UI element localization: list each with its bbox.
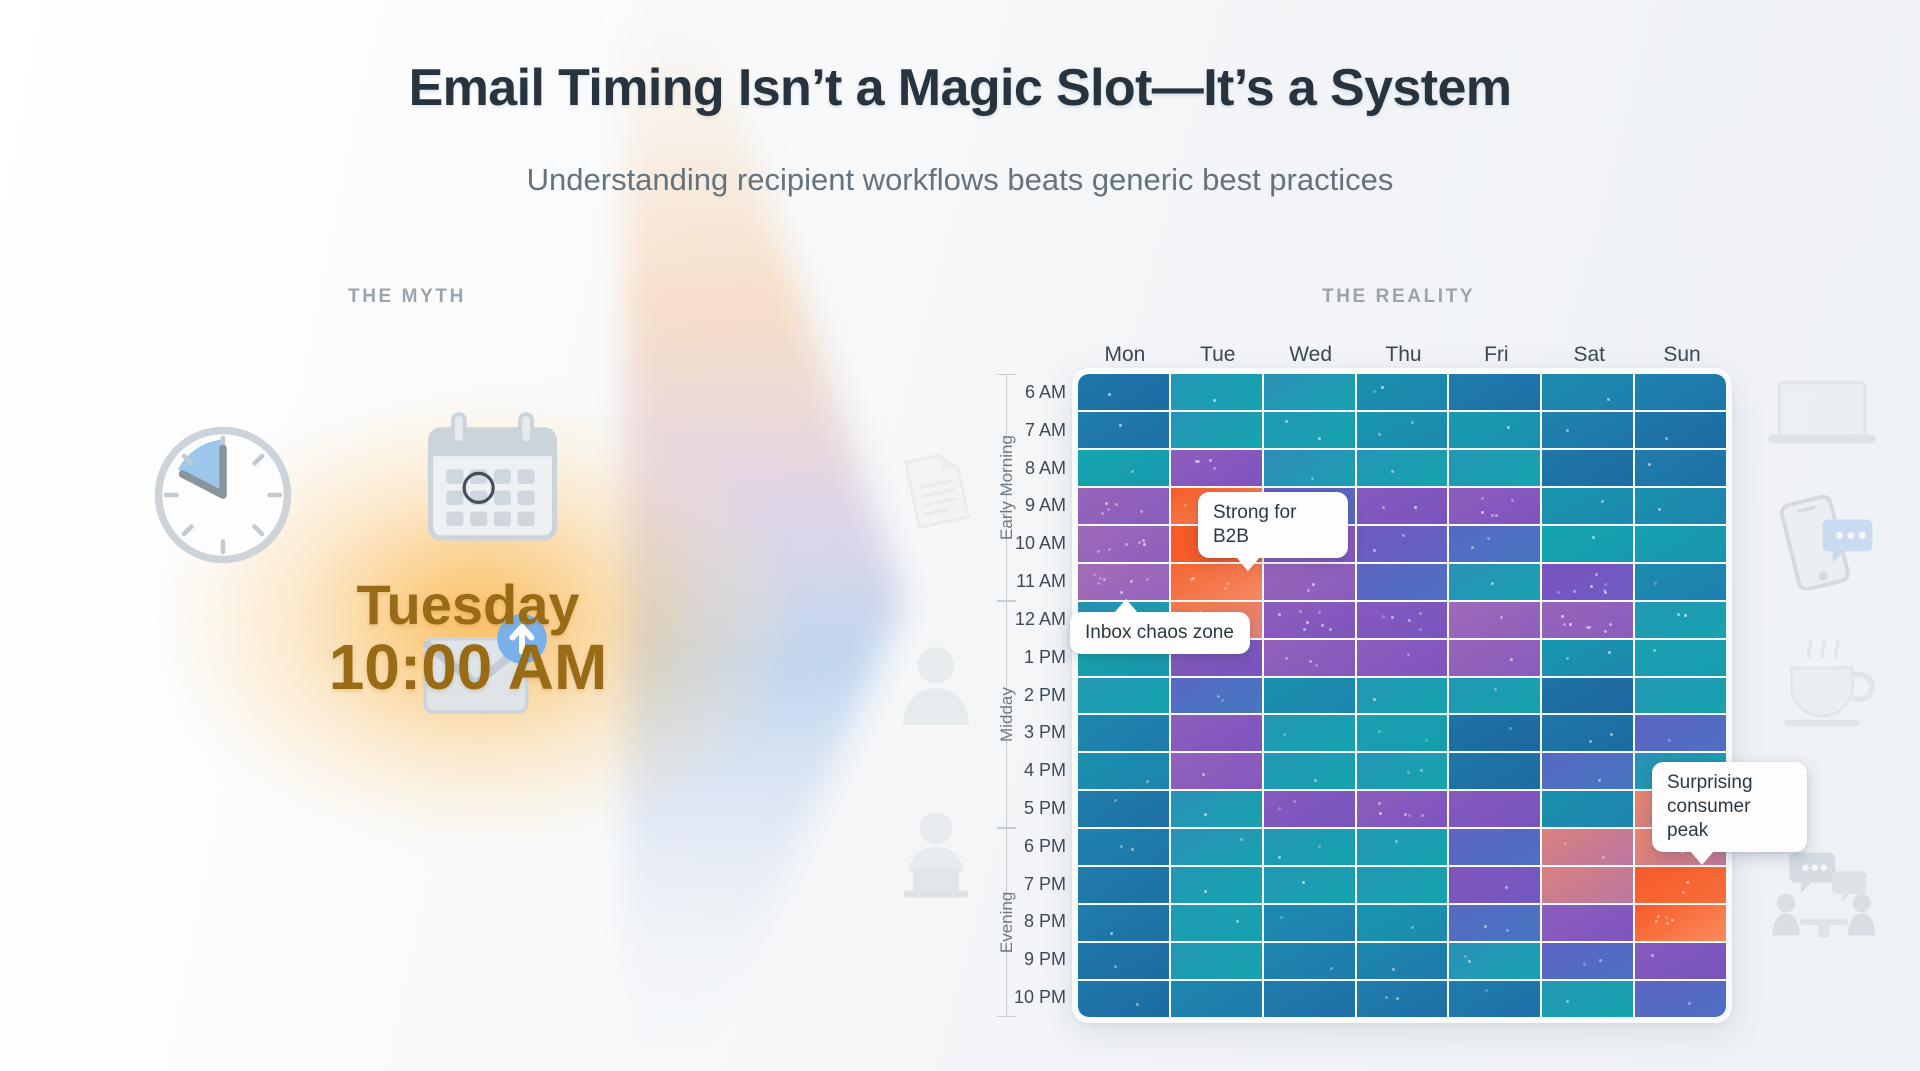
heatmap-cell-speckle	[1285, 420, 1288, 423]
heatmap-cell[interactable]	[1542, 791, 1633, 827]
heatmap-cell[interactable]	[1078, 564, 1169, 600]
heatmap-cell[interactable]	[1264, 602, 1355, 638]
heatmap-cell-speckle	[1589, 740, 1592, 743]
heatmap-cell-speckle	[1314, 779, 1317, 782]
heatmap-cell-speckle	[1603, 589, 1606, 592]
heatmap-cell[interactable]	[1635, 867, 1726, 903]
heatmap-cell-speckle	[1557, 591, 1560, 594]
heatmap-cell[interactable]	[1635, 640, 1726, 676]
heatmap-cell[interactable]	[1635, 981, 1726, 1017]
heatmap-cell[interactable]	[1635, 412, 1726, 448]
heatmap-cell[interactable]	[1171, 867, 1262, 903]
heatmap-cell[interactable]	[1449, 526, 1540, 562]
heatmap-cell[interactable]	[1357, 753, 1448, 789]
heatmap-cell-speckle	[1318, 845, 1321, 848]
heatmap-cell-speckle	[1382, 506, 1385, 509]
heatmap-cell-speckle	[1379, 812, 1382, 815]
heatmap-cell[interactable]	[1542, 602, 1633, 638]
heatmap-cell-speckle	[1566, 1000, 1569, 1003]
heatmap-cell[interactable]	[1357, 526, 1448, 562]
heatmap-cell-speckle	[1195, 460, 1198, 463]
heatmap-cell-speckle	[1391, 470, 1394, 473]
infographic-canvas: Email Timing Isn’t a Magic Slot—It’s a S…	[0, 0, 1920, 1071]
heatmap-cell[interactable]	[1357, 791, 1448, 827]
heatmap-cell[interactable]	[1449, 753, 1540, 789]
day-header-mon: Mon	[1077, 343, 1172, 367]
heatmap-cell[interactable]	[1264, 715, 1355, 751]
day-header-thu: Thu	[1356, 343, 1451, 367]
heatmap-cell-speckle	[1561, 615, 1564, 618]
heatmap-cell-speckle	[1309, 660, 1312, 663]
heatmap-cell-speckle	[1373, 698, 1376, 701]
heatmap-cell-speckle	[1391, 616, 1394, 619]
heatmap-cell-speckle	[1510, 658, 1513, 661]
heatmap-cell[interactable]	[1171, 450, 1262, 486]
heatmap-cell[interactable]	[1078, 981, 1169, 1017]
heatmap-cell-speckle	[1378, 433, 1381, 436]
heatmap-cell[interactable]	[1264, 678, 1355, 714]
heatmap-cell-speckle	[1464, 955, 1467, 958]
section-label-reality: THE REALITY	[1322, 286, 1475, 308]
heatmap-cell[interactable]	[1078, 488, 1169, 524]
hour-label: 11 AM	[988, 571, 1066, 592]
heatmap-cell[interactable]	[1078, 374, 1169, 410]
heatmap-cell-speckle	[1396, 997, 1399, 1000]
heatmap-cell[interactable]	[1264, 374, 1355, 410]
heatmap-cell[interactable]	[1357, 602, 1448, 638]
heatmap-cell-speckle	[1278, 856, 1281, 859]
heatmap-cell[interactable]	[1635, 450, 1726, 486]
heatmap-cell[interactable]	[1171, 753, 1262, 789]
heatmap-cell[interactable]	[1078, 829, 1169, 865]
heatmap-cell-speckle	[1583, 963, 1586, 966]
heatmap-cell-speckle	[1114, 965, 1117, 968]
heatmap-cell-speckle	[1599, 959, 1602, 962]
heatmap-cell[interactable]	[1542, 867, 1633, 903]
heatmap-cell-speckle	[1105, 502, 1108, 505]
heatmap-cell[interactable]	[1357, 450, 1448, 486]
heatmap-cell-speckle	[1311, 477, 1314, 480]
heatmap-cell-speckle	[1378, 802, 1381, 805]
heatmap-cell[interactable]	[1264, 943, 1355, 979]
heatmap-cell-speckle	[1382, 615, 1385, 618]
heatmap-cell-speckle	[1421, 814, 1424, 817]
page-title: Email Timing Isn’t a Magic Slot—It’s a S…	[0, 58, 1920, 118]
day-header-sun: Sun	[1635, 343, 1730, 367]
heatmap-cell-speckle	[1204, 890, 1207, 893]
heatmap-cell[interactable]	[1078, 412, 1169, 448]
heatmap-cell[interactable]	[1171, 678, 1262, 714]
heatmap-cell[interactable]	[1171, 715, 1262, 751]
hour-label: 7 PM	[988, 874, 1066, 895]
heatmap-cell-speckle	[1330, 967, 1333, 970]
heatmap-cell[interactable]	[1542, 412, 1633, 448]
heatmap-cell-speckle	[1573, 590, 1576, 593]
heatmap-cell[interactable]	[1264, 981, 1355, 1017]
heatmap-cell-speckle	[1407, 653, 1410, 656]
phone-message-icon	[1778, 490, 1876, 590]
heatmap-cell[interactable]	[1171, 412, 1262, 448]
heatmap-cell-speckle	[1278, 613, 1281, 616]
heatmap-cell[interactable]	[1542, 450, 1633, 486]
heatmap-cell[interactable]	[1635, 715, 1726, 751]
heatmap-cell[interactable]	[1449, 374, 1540, 410]
heatmap-cell[interactable]	[1171, 791, 1262, 827]
callout-tail	[1114, 599, 1138, 613]
heatmap-cell-speckle	[1103, 578, 1106, 581]
heatmap-cell-speckle	[1280, 916, 1283, 919]
heatmap-cell-speckle	[1586, 626, 1589, 629]
heatmap-cell-speckle	[1404, 813, 1407, 816]
heatmap-cell[interactable]	[1357, 640, 1448, 676]
heatmap-cell-speckle	[1184, 504, 1187, 507]
callout-text: Inbox chaos zone	[1085, 622, 1234, 643]
hour-label: 12 AM	[988, 609, 1066, 630]
heatmap-cell[interactable]	[1264, 753, 1355, 789]
heatmap-cell[interactable]	[1542, 715, 1633, 751]
heatmap-cell-speckle	[1402, 534, 1405, 537]
heatmap-cell[interactable]	[1357, 829, 1448, 865]
heatmap-cell-speckle	[1142, 539, 1145, 542]
heatmap-cell-speckle	[1120, 591, 1123, 594]
heatmap-cell[interactable]	[1542, 526, 1633, 562]
heatmap-cell[interactable]	[1635, 602, 1726, 638]
heatmap-cell[interactable]	[1357, 412, 1448, 448]
heatmap-cell[interactable]	[1357, 981, 1448, 1017]
heatmap-cell[interactable]	[1449, 640, 1540, 676]
heatmap-cell[interactable]	[1449, 829, 1540, 865]
heatmap-cell-speckle	[1665, 916, 1668, 919]
heatmap-cell-speckle	[1202, 773, 1205, 776]
hour-label: 5 PM	[988, 798, 1066, 819]
heatmap-cell-speckle	[1312, 583, 1315, 586]
hour-label: 2 PM	[988, 685, 1066, 706]
clock-icon	[148, 420, 298, 570]
heatmap-cell-speckle	[1411, 421, 1414, 424]
heatmap-cell[interactable]	[1078, 867, 1169, 903]
heatmap-cell-speckle	[1507, 426, 1510, 429]
heatmap-cell[interactable]	[1542, 753, 1633, 789]
calendar-icon	[420, 408, 565, 548]
day-header-fri: Fri	[1449, 343, 1544, 367]
heatmap-cell[interactable]	[1171, 905, 1262, 941]
heatmap-cell-speckle	[1373, 390, 1376, 393]
heatmap-cell-speckle	[1108, 548, 1111, 551]
heatmap-cell-speckle	[1569, 623, 1572, 626]
heatmap-cell-speckle	[1566, 657, 1569, 660]
callout-consumer-peak[interactable]: Surprising consumer peak	[1652, 762, 1807, 852]
myth-day-label: Tuesday	[168, 575, 768, 634]
heatmap-cell-speckle	[1120, 845, 1123, 848]
heatmap-cell[interactable]	[1542, 905, 1633, 941]
heatmap-grid[interactable]	[1078, 374, 1726, 1017]
hour-label: 6 PM	[988, 836, 1066, 857]
heatmap-cell-speckle	[1285, 657, 1288, 660]
heatmap-cell-speckle	[1217, 695, 1220, 698]
heatmap-cell[interactable]	[1635, 488, 1726, 524]
heatmap-cell-speckle	[1140, 510, 1143, 513]
heatmap-cell[interactable]	[1542, 943, 1633, 979]
heatmap-cell[interactable]	[1357, 564, 1448, 600]
heatmap-cell-speckle	[1419, 628, 1422, 631]
heatmap-cell-speckle	[1601, 500, 1604, 503]
heatmap-cell-speckle	[1511, 499, 1514, 502]
heatmap-cell[interactable]	[1449, 488, 1540, 524]
callout-inbox-chaos[interactable]: Inbox chaos zone	[1070, 612, 1250, 654]
heatmap-cell-speckle	[1414, 506, 1417, 509]
heatmap-card[interactable]	[1072, 368, 1732, 1023]
heatmap-cell-speckle	[1598, 779, 1601, 782]
heatmap-cell[interactable]	[1542, 829, 1633, 865]
heatmap-cell[interactable]	[1635, 564, 1726, 600]
heatmap-cell-speckle	[1408, 619, 1411, 622]
callout-tail	[1690, 851, 1714, 865]
heatmap-cell[interactable]	[1449, 412, 1540, 448]
heatmap-cell[interactable]	[1635, 374, 1726, 410]
heatmap-cell-speckle	[1131, 470, 1134, 473]
heatmap-cell[interactable]	[1635, 678, 1726, 714]
heatmap-cell-speckle	[1684, 614, 1687, 617]
document-icon	[896, 450, 976, 530]
heatmap-cell-speckle	[1395, 840, 1398, 843]
heatmap-cell-speckle	[1097, 550, 1100, 553]
hour-label: 10 PM	[988, 987, 1066, 1008]
heatmap-cell-speckle	[1283, 733, 1286, 736]
heatmap-cell-speckle	[1484, 925, 1487, 928]
heatmap-cell[interactable]	[1357, 905, 1448, 941]
heatmap-cell[interactable]	[1357, 943, 1448, 979]
heatmap-cell-speckle	[1240, 838, 1243, 841]
heatmap-cell-speckle	[1595, 573, 1598, 576]
heatmap-cell-speckle	[1115, 503, 1118, 506]
heatmap-cell-speckle	[1307, 589, 1310, 592]
myth-callout: Tuesday 10:00 AM	[168, 575, 768, 702]
heatmap-cell-speckle	[1648, 463, 1651, 466]
heatmap-cell[interactable]	[1171, 829, 1262, 865]
heatmap-cell[interactable]	[1449, 602, 1540, 638]
heatmap-cell[interactable]	[1357, 715, 1448, 751]
heatmap-cell[interactable]	[1357, 678, 1448, 714]
heatmap-cell-speckle	[1590, 585, 1593, 588]
hour-axis: 6 AM7 AM8 AM9 AM10 AM11 AM12 AM1 PM2 PM3…	[1000, 368, 1066, 1023]
heatmap-cell-speckle	[1602, 856, 1605, 859]
heatmap-cell[interactable]	[1635, 905, 1726, 941]
page-subtitle: Understanding recipient workflows beats …	[0, 162, 1920, 198]
heatmap-cell-speckle	[1604, 630, 1607, 633]
heatmap-cell-speckle	[1299, 610, 1302, 613]
heatmap-cell-speckle	[1221, 699, 1224, 702]
heatmap-cell-speckle	[1419, 612, 1422, 615]
laptop-icon	[1768, 378, 1876, 448]
heatmap-cell[interactable]	[1264, 867, 1355, 903]
meeting-icon	[1770, 848, 1880, 940]
heatmap-cell-speckle	[1481, 497, 1484, 500]
heatmap-cell-speckle	[1101, 512, 1104, 515]
heatmap-cell-speckle	[1481, 511, 1484, 514]
heatmap-cell-speckle	[1213, 467, 1216, 470]
heatmap-cell-speckle	[1608, 651, 1611, 654]
myth-time-label: 10:00 AM	[168, 634, 768, 702]
heatmap-cell-speckle	[1236, 920, 1239, 923]
heatmap-cell[interactable]	[1264, 905, 1355, 941]
heatmap-cell[interactable]	[1078, 943, 1169, 979]
heatmap-cell-speckle	[1506, 929, 1509, 932]
heatmap-cell-speckle	[1505, 886, 1508, 889]
heatmap-cell-speckle	[1329, 628, 1332, 631]
heatmap-cell[interactable]	[1264, 791, 1355, 827]
heatmap-cell[interactable]	[1635, 526, 1726, 562]
heatmap-cell-speckle	[1318, 611, 1321, 614]
heatmap-cell-speckle	[1302, 881, 1305, 884]
heatmap-cell-speckle	[1471, 546, 1474, 549]
heatmap-cell[interactable]	[1542, 374, 1633, 410]
heatmap-cell-speckle	[1666, 922, 1669, 925]
heatmap-cell-speckle	[1114, 799, 1117, 802]
heatmap-cell-speckle	[1407, 771, 1410, 774]
heatmap-cell-speckle	[1651, 954, 1654, 957]
heatmap-cell-speckle	[1487, 537, 1490, 540]
heatmap-cell-speckle	[1425, 739, 1428, 742]
heatmap-cell-speckle	[1303, 628, 1306, 631]
heatmap-cell-speckle	[1373, 549, 1376, 552]
heatmap-cell-speckle	[1411, 926, 1414, 929]
heatmap-cell-speckle	[1485, 989, 1488, 992]
heatmap-cell[interactable]	[1078, 450, 1169, 486]
day-header-tue: Tue	[1170, 343, 1265, 367]
heatmap-cell-speckle	[1494, 688, 1497, 691]
heatmap-cell[interactable]	[1171, 981, 1262, 1017]
heatmap-cell-speckle	[1306, 621, 1309, 624]
heatmap-cell[interactable]	[1264, 640, 1355, 676]
heatmap-cell-speckle	[1682, 891, 1685, 894]
heatmap-cell[interactable]	[1542, 981, 1633, 1017]
heatmap-cell-speckle	[1420, 769, 1423, 772]
hour-label: 7 AM	[988, 420, 1066, 441]
heatmap-cell-speckle	[1315, 664, 1318, 667]
person-icon	[896, 640, 976, 725]
heatmap-cell-speckle	[1668, 739, 1671, 742]
day-header-sat: Sat	[1542, 343, 1637, 367]
heatmap-cell-speckle	[1318, 437, 1321, 440]
heatmap-cell[interactable]	[1449, 450, 1540, 486]
heatmap-cell-speckle	[1500, 616, 1503, 619]
hour-label: 9 PM	[988, 949, 1066, 970]
heatmap-cell-speckle	[1190, 578, 1193, 581]
heatmap-cell-speckle	[1278, 807, 1281, 810]
heatmap-cell-speckle	[1392, 968, 1395, 971]
heatmap-cell-speckle	[1657, 915, 1660, 918]
heatmap-cell[interactable]	[1264, 450, 1355, 486]
hour-label: 8 PM	[988, 911, 1066, 932]
heatmap-cell[interactable]	[1078, 526, 1169, 562]
heatmap-cell-speckle	[1665, 437, 1668, 440]
heatmap-cell[interactable]	[1357, 488, 1448, 524]
heatmap-cell-speckle	[1107, 508, 1110, 511]
heatmap-cell[interactable]	[1542, 488, 1633, 524]
heatmap-cell-speckle	[1658, 508, 1661, 511]
heatmap-cell-speckle	[1136, 1003, 1139, 1006]
hour-label: 1 PM	[988, 647, 1066, 668]
heatmap-cell[interactable]	[1449, 905, 1540, 941]
heatmap-cell[interactable]	[1078, 905, 1169, 941]
heatmap-cell[interactable]	[1357, 867, 1448, 903]
heatmap-cell[interactable]	[1449, 943, 1540, 979]
heatmap-cell[interactable]	[1171, 943, 1262, 979]
heatmap-cell[interactable]	[1264, 564, 1355, 600]
heatmap-cell-speckle	[1146, 578, 1149, 581]
heatmap-cell-speckle	[1509, 727, 1512, 730]
callout-strong-b2b[interactable]: Strong for B2B	[1198, 492, 1348, 558]
hour-label: 4 PM	[988, 760, 1066, 781]
heatmap-cell[interactable]	[1449, 981, 1540, 1017]
heatmap-cell-speckle	[1093, 573, 1096, 576]
heatmap-cell-speckle	[1108, 393, 1111, 396]
heatmap-cell-speckle	[1099, 577, 1102, 580]
heatmap-cell[interactable]	[1635, 943, 1726, 979]
heatmap-cell-speckle	[1671, 919, 1674, 922]
hour-label: 9 AM	[988, 495, 1066, 516]
heatmap-cell-speckle	[1655, 920, 1658, 923]
heatmap-cell[interactable]	[1078, 753, 1169, 789]
heatmap-cell-speckle	[1224, 587, 1227, 590]
heatmap-cell-speckle	[1491, 582, 1494, 585]
heatmap-cell-speckle	[1378, 730, 1381, 733]
heatmap-cell[interactable]	[1542, 564, 1633, 600]
heatmap-cell-speckle	[1226, 582, 1229, 585]
heatmap-cell-speckle	[1138, 541, 1141, 544]
heatmap-cell-speckle	[1385, 996, 1388, 999]
callout-text: Surprising consumer peak	[1667, 772, 1753, 841]
heatmap-cell[interactable]	[1449, 678, 1540, 714]
heatmap-cell-speckle	[1491, 514, 1494, 517]
heatmap-cell-speckle	[1566, 429, 1569, 432]
heatmap-cell[interactable]	[1542, 678, 1633, 714]
heatmap-cell-speckle	[1146, 780, 1149, 783]
heatmap-cell-speckle	[1563, 623, 1566, 626]
heatmap-cell-speckle	[1592, 536, 1595, 539]
heatmap-cell[interactable]	[1078, 678, 1169, 714]
heatmap-cell-speckle	[1293, 800, 1296, 803]
heatmap-cell-speckle	[1654, 582, 1657, 585]
heatmap-cell[interactable]	[1542, 640, 1633, 676]
heatmap-cell-speckle	[1131, 848, 1134, 851]
heatmap-cell[interactable]	[1264, 829, 1355, 865]
heatmap-cell[interactable]	[1078, 791, 1169, 827]
heatmap-cell-speckle	[1130, 580, 1133, 583]
heatmap-cell-speckle	[1604, 583, 1607, 586]
heatmap-cell[interactable]	[1357, 374, 1448, 410]
heatmap-cell-speckle	[1097, 582, 1100, 585]
heatmap-cell-speckle	[1607, 398, 1610, 401]
heatmap-cell-speckle	[1468, 960, 1471, 963]
heatmap-cell[interactable]	[1449, 867, 1540, 903]
heatmap-cell-speckle	[1653, 649, 1656, 652]
heatmap-cell-speckle	[1609, 623, 1612, 626]
heatmap-cell-speckle	[1381, 386, 1384, 389]
heatmap-cell[interactable]	[1449, 564, 1540, 600]
callout-text: Strong for B2B	[1213, 502, 1296, 547]
heatmap-cell[interactable]	[1449, 791, 1540, 827]
heatmap-cell[interactable]	[1264, 412, 1355, 448]
heatmap-cell-speckle	[1686, 881, 1689, 884]
heatmap-cell-speckle	[1677, 613, 1680, 616]
heatmap-cell[interactable]	[1171, 374, 1262, 410]
heatmap-cell[interactable]	[1449, 715, 1540, 751]
day-header-wed: Wed	[1263, 343, 1358, 367]
heatmap-cell[interactable]	[1078, 715, 1169, 751]
person-laptop-icon	[890, 810, 982, 900]
heatmap-cell-speckle	[1110, 932, 1113, 935]
